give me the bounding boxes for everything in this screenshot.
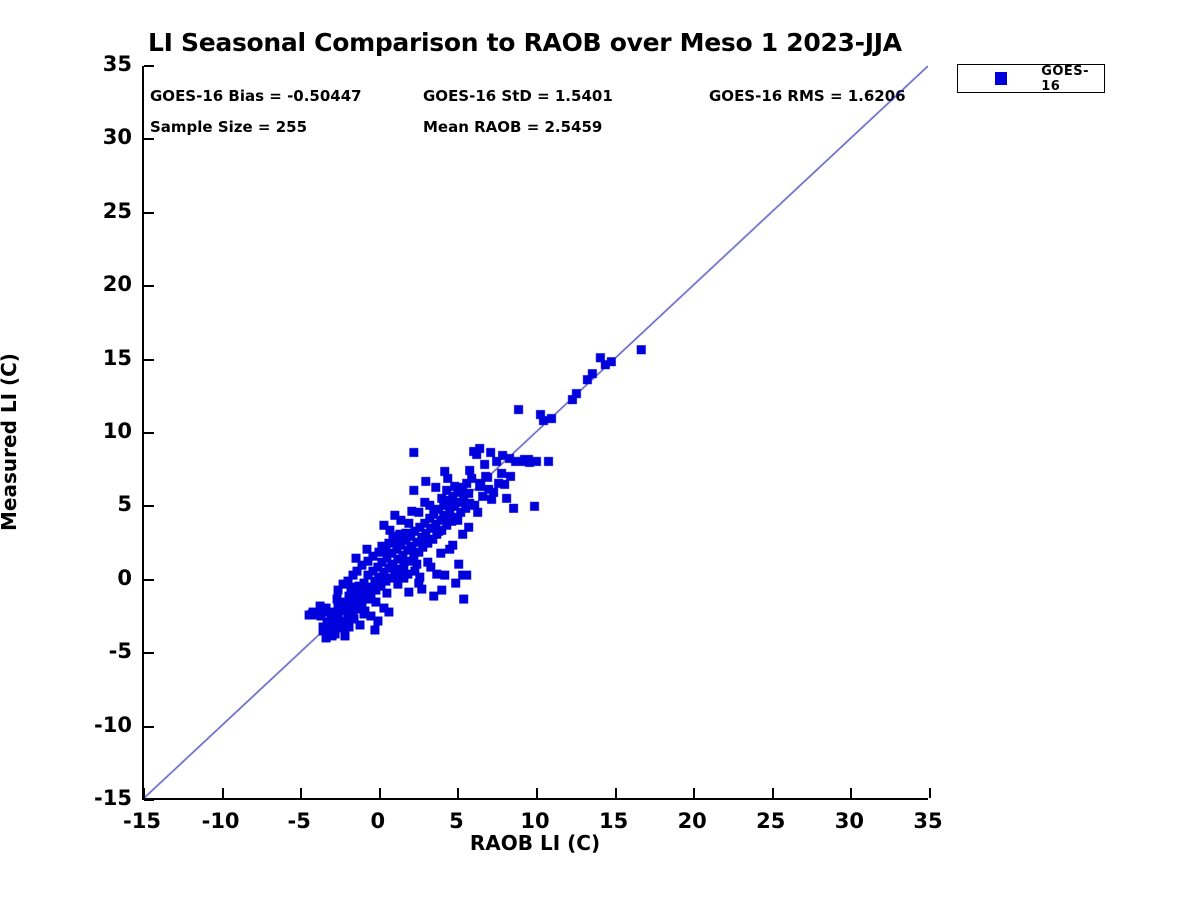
y-tick-label: 5 — [62, 492, 132, 516]
x-axis-title: RAOB LI (C) — [0, 831, 1070, 855]
y-tick-label: -5 — [62, 639, 132, 663]
y-tick-mark — [144, 799, 154, 801]
x-tick-label: -10 — [181, 809, 261, 833]
y-tick-label: 20 — [62, 272, 132, 296]
x-tick-mark — [850, 788, 852, 798]
y-tick-mark — [144, 285, 154, 287]
x-tick-label: 20 — [652, 809, 732, 833]
x-tick-mark — [457, 788, 459, 798]
x-tick-label: 10 — [495, 809, 575, 833]
y-tick-label: 10 — [62, 419, 132, 443]
x-tick-label: 5 — [416, 809, 496, 833]
x-tick-mark — [300, 788, 302, 798]
x-tick-label: 35 — [888, 809, 968, 833]
y-tick-mark — [144, 138, 154, 140]
x-tick-mark — [929, 788, 931, 798]
y-tick-label: 35 — [62, 52, 132, 76]
y-tick-mark — [144, 359, 154, 361]
x-tick-mark — [143, 788, 145, 798]
page-title: LI Seasonal Comparison to RAOB over Meso… — [148, 28, 902, 57]
legend-label-goes-16: GOES-16 — [1041, 64, 1104, 94]
x-tick-label: -15 — [102, 809, 182, 833]
legend-swatch-goes-16 — [995, 72, 1007, 85]
x-tick-mark — [379, 788, 381, 798]
x-tick-label: 30 — [809, 809, 889, 833]
y-tick-mark — [144, 505, 154, 507]
x-tick-mark — [772, 788, 774, 798]
y-axis-title: Measured LI (C) — [0, 242, 21, 642]
y-tick-mark — [144, 652, 154, 654]
y-tick-mark — [144, 65, 154, 67]
y-tick-mark — [144, 579, 154, 581]
legend[interactable]: GOES-16 — [957, 64, 1105, 93]
y-tick-label: 0 — [62, 566, 132, 590]
y-tick-mark — [144, 726, 154, 728]
x-tick-mark — [222, 788, 224, 798]
x-tick-label: 15 — [574, 809, 654, 833]
plot-area — [142, 66, 928, 800]
scatter-plot-canvas — [144, 66, 928, 798]
y-tick-label: -10 — [62, 713, 132, 737]
x-tick-label: -5 — [259, 809, 339, 833]
y-tick-mark — [144, 212, 154, 214]
x-tick-label: 25 — [731, 809, 811, 833]
x-tick-mark — [693, 788, 695, 798]
x-tick-mark — [536, 788, 538, 798]
x-tick-label: 0 — [338, 809, 418, 833]
y-tick-mark — [144, 432, 154, 434]
x-tick-mark — [615, 788, 617, 798]
y-tick-label: 30 — [62, 125, 132, 149]
y-tick-label: 15 — [62, 346, 132, 370]
y-tick-label: -15 — [62, 786, 132, 810]
y-tick-label: 25 — [62, 199, 132, 223]
